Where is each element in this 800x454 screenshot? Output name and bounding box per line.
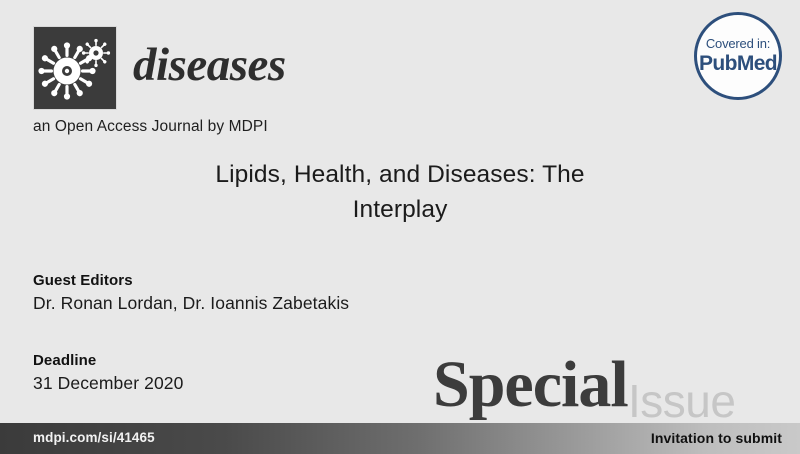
watermark-special-text: Special bbox=[433, 352, 628, 418]
special-issue-title: Lipids, Health, and Diseases: The Interp… bbox=[170, 158, 630, 228]
special-issue-flyer: diseases an Open Access Journal by MDPI … bbox=[0, 0, 800, 454]
guest-editors-block: Guest Editors Dr. Ronan Lordan, Dr. Ioan… bbox=[33, 272, 349, 314]
virus-particles-icon bbox=[33, 26, 117, 110]
deadline-value: 31 December 2020 bbox=[33, 373, 183, 394]
invitation-to-submit-label[interactable]: Invitation to submit bbox=[651, 430, 782, 446]
journal-logo-block: diseases bbox=[33, 26, 286, 110]
badge-pubmed-label: PubMed bbox=[699, 52, 777, 75]
guest-editors-value: Dr. Ronan Lordan, Dr. Ioannis Zabetakis bbox=[33, 293, 349, 314]
watermark-issue-text: Issue bbox=[628, 378, 735, 424]
badge-covered-label: Covered in: bbox=[706, 37, 770, 51]
deadline-label: Deadline bbox=[33, 352, 183, 369]
footer-bar: mdpi.com/si/41465 Invitation to submit bbox=[0, 423, 800, 454]
special-issue-url[interactable]: mdpi.com/si/41465 bbox=[33, 430, 155, 445]
deadline-block: Deadline 31 December 2020 bbox=[33, 352, 183, 394]
journal-wordmark: diseases bbox=[133, 42, 286, 95]
covered-in-pubmed-badge: Covered in: PubMed bbox=[694, 12, 782, 100]
guest-editors-label: Guest Editors bbox=[33, 272, 349, 289]
journal-tagline: an Open Access Journal by MDPI bbox=[33, 118, 268, 136]
